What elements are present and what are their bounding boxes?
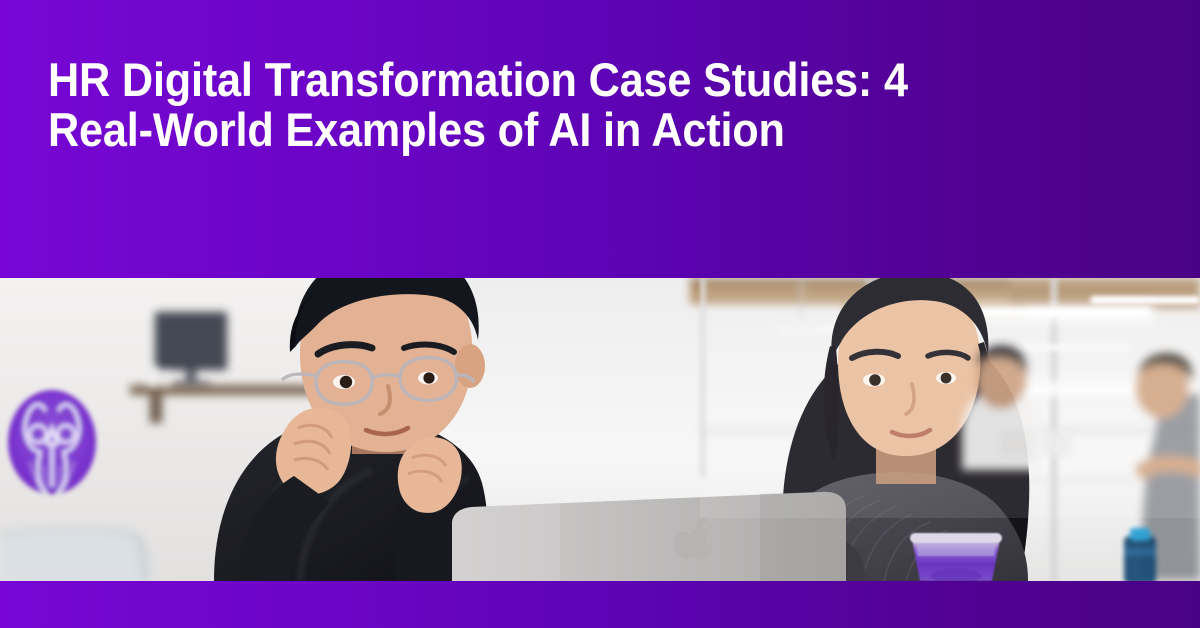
social-share-banner: HR Digital Transformation Case Studies: …	[0, 0, 1200, 628]
purple-drink-cup	[910, 533, 1002, 581]
bottom-purple-strip	[0, 581, 1200, 628]
hero-photo	[0, 278, 1200, 581]
owl-logo-on-wall	[8, 390, 96, 494]
office-photo-illustration	[0, 278, 1200, 581]
page-title: HR Digital Transformation Case Studies: …	[48, 55, 977, 155]
headline-band: HR Digital Transformation Case Studies: …	[0, 0, 1200, 278]
